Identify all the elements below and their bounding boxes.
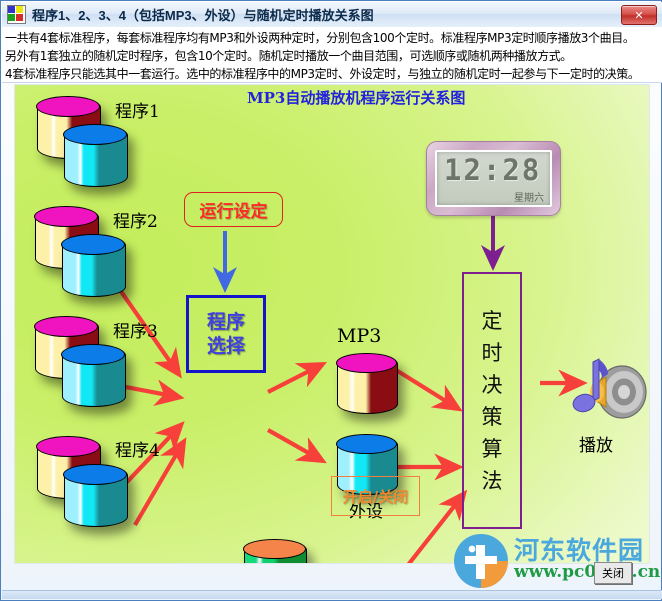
cylinder-peripheral [62, 345, 126, 407]
window-close-icon[interactable]: ✕ [621, 5, 657, 25]
cylinder-mp3-main [337, 354, 398, 414]
program-label-2: 程序2 [113, 207, 158, 232]
program-select-line-2: 选择 [207, 334, 245, 358]
clock-screen: 12:28 星期六 [435, 150, 552, 207]
dialog-window: 程序1、2、3、4（包括MP3、外设）与随机定时播放关系图 ✕ 一共有4套标准程… [0, 0, 662, 601]
description-block: 一共有4套标准程序，每套标准程序均有MP3和外设两种定时，分别包含100个定时。… [2, 27, 662, 83]
algo-char-3: 策 [482, 401, 503, 433]
digital-clock-icon: 12:28 星期六 [426, 141, 561, 216]
arrow-devices-to-algorithm [396, 370, 457, 467]
play-speaker-icon [566, 356, 648, 428]
program-label-1: 程序1 [115, 97, 160, 122]
program-label-3: 程序3 [113, 317, 158, 342]
arrow-select-to-devices [268, 365, 321, 460]
diagram-title: MP3自动播放机程序运行关系图 [247, 87, 465, 108]
window-title: 程序1、2、3、4（包括MP3、外设）与随机定时播放关系图 [32, 5, 374, 24]
algo-char-4: 算 [482, 433, 503, 465]
algo-char-2: 决 [482, 369, 503, 401]
cylinder-peripheral [62, 235, 126, 297]
cylinder-random-timer [244, 540, 307, 563]
app-logo-icon [7, 5, 26, 24]
mp3-label: MP3 [337, 325, 381, 347]
description-line-3: 4套标准程序只能选其中一套运行。选中的标准程序中的MP3定时、外设定时，与独立的… [5, 65, 660, 83]
description-line-1: 一共有4套标准程序，每套标准程序均有MP3和外设两种定时，分别包含100个定时。… [5, 29, 660, 47]
algo-char-1: 时 [482, 337, 503, 369]
run-setting-box[interactable]: 运行设定 [184, 192, 283, 227]
timing-decision-algorithm-box[interactable]: 定 时 决 策 算 法 [462, 272, 522, 529]
status-bar [2, 590, 662, 599]
program-select-box[interactable]: 程序 选择 [186, 295, 266, 373]
algo-char-0: 定 [482, 305, 503, 337]
program-label-4: 程序4 [115, 436, 160, 461]
title-bar: 程序1、2、3、4（包括MP3、外设）与随机定时播放关系图 ✕ [2, 2, 662, 28]
cylinder-peripheral [64, 125, 128, 187]
clock-weekday: 星期六 [514, 189, 544, 204]
cylinder-peripheral [64, 465, 128, 527]
program-select-line-1: 程序 [207, 310, 245, 334]
watermark-logo-icon [452, 532, 510, 590]
description-line-2: 另外有1套独立的随机定时程序，包含10个定时。随机定时播放一个曲目范围，可选顺序… [5, 47, 660, 65]
close-button[interactable]: 关闭 [594, 562, 632, 584]
algo-char-5: 法 [482, 465, 503, 497]
clock-time: 12:28 [444, 153, 541, 187]
play-label: 播放 [579, 431, 613, 456]
on-off-box[interactable]: 开启/关闭 [331, 476, 420, 516]
watermark-url: www.pc0359.cn [514, 562, 660, 582]
